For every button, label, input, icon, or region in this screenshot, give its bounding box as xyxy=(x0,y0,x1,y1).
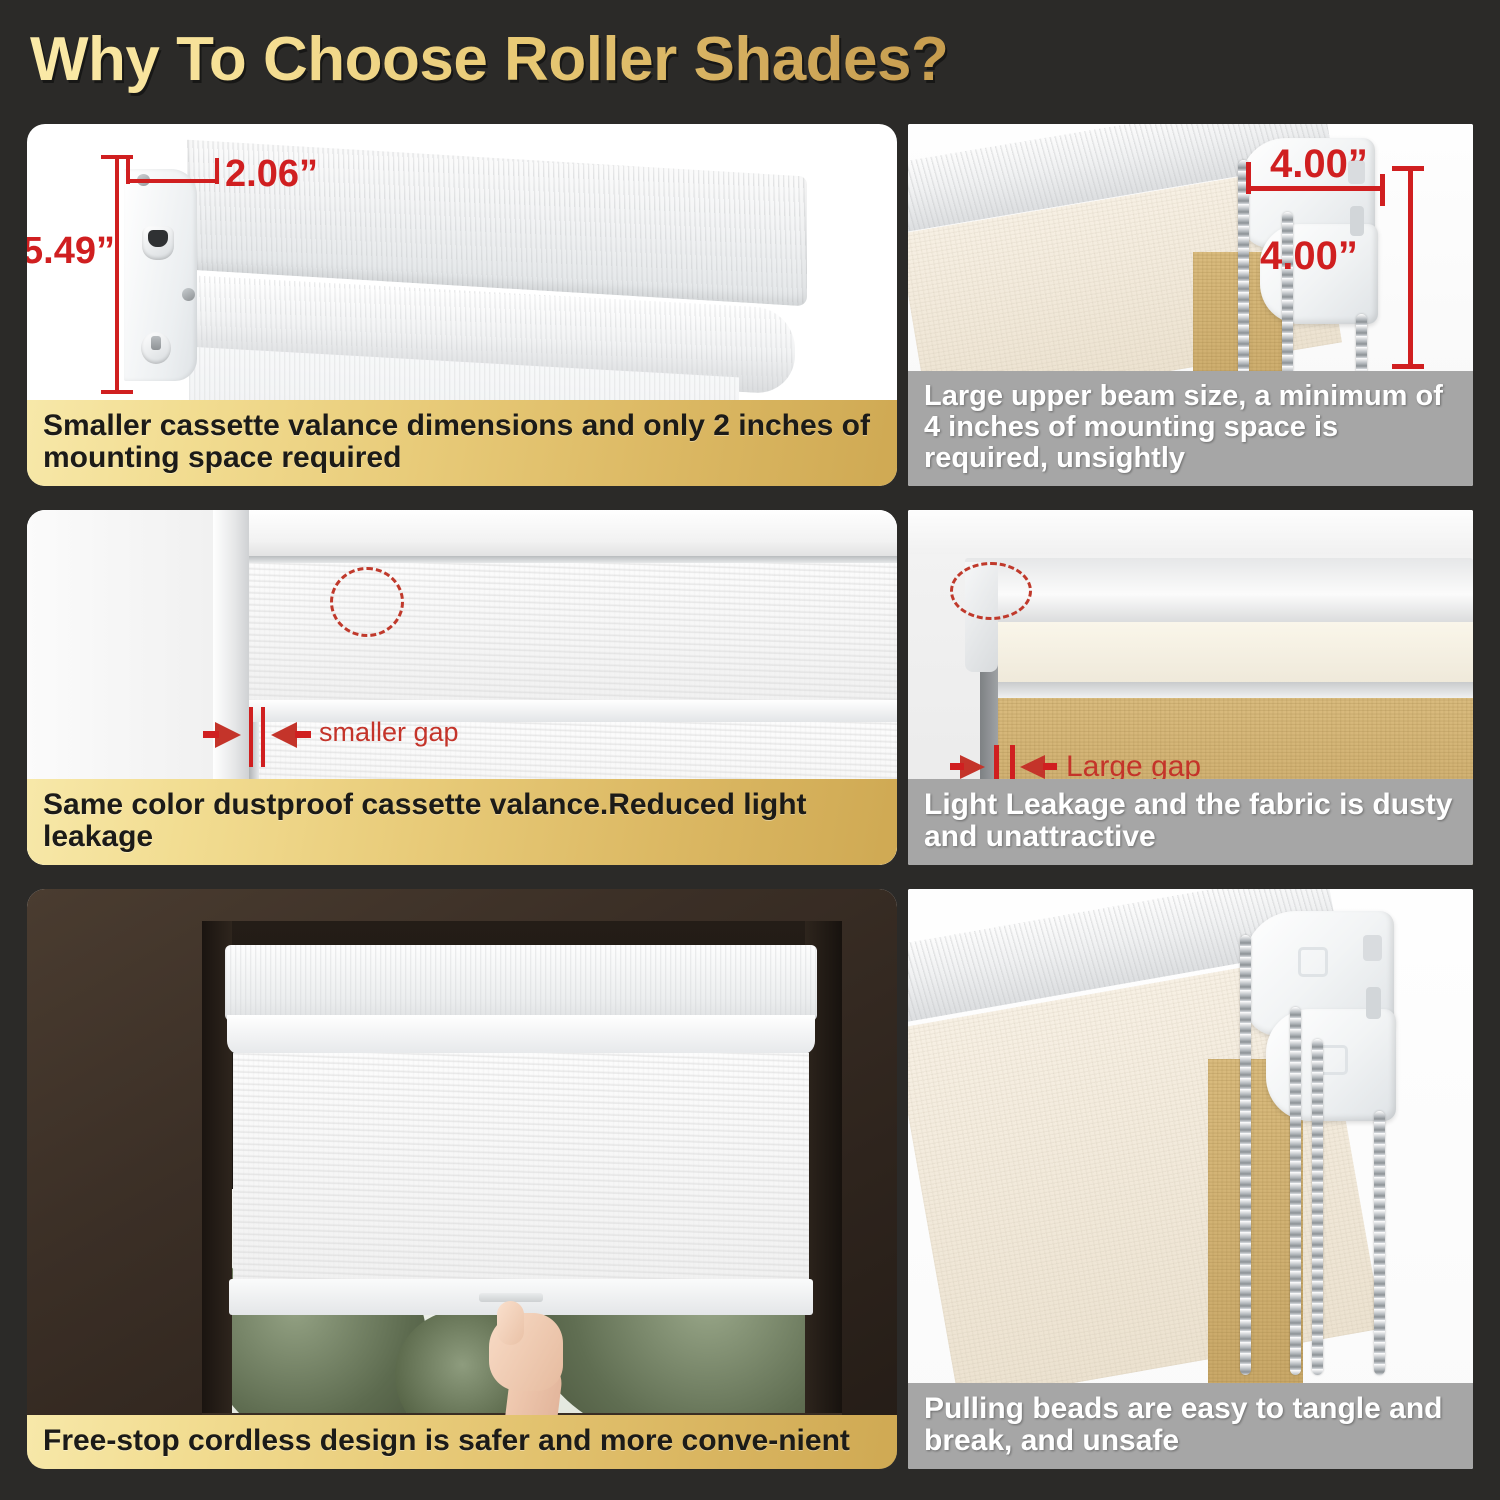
panel-con-light-leakage[interactable]: Large gap Light Leakage and the fabric i… xyxy=(908,510,1473,865)
bracket-slot-icon xyxy=(148,230,168,247)
width-dimension-label: 2.06” xyxy=(225,153,318,196)
height-dimension-line xyxy=(115,156,119,394)
beam-height-label: 4.00” xyxy=(1260,234,1358,279)
bottom-rail xyxy=(993,682,1473,698)
bead-chain-3 xyxy=(1312,1039,1323,1375)
width-dimension-tick-left xyxy=(126,158,130,184)
beam-height-line xyxy=(1408,168,1413,368)
height-dimension-label: 5.49” xyxy=(27,230,115,273)
panel-pro-cordless-design[interactable]: Free-stop cordless design is safer and m… xyxy=(27,889,897,1469)
beam-lower-cream xyxy=(998,622,1473,684)
panel-pro-cassette-size[interactable]: 2.06” 5.49” Smaller cassette valance dim… xyxy=(27,124,897,486)
cassette-lip xyxy=(227,1015,815,1055)
top-shadow-band xyxy=(908,510,1473,554)
gap-marker-right xyxy=(261,707,265,767)
height-dimension-tick-top xyxy=(101,155,133,159)
window-frame-top xyxy=(223,510,897,562)
beam-width-tick-left xyxy=(1246,162,1251,194)
bead-chain-1 xyxy=(1240,935,1251,1375)
valance-seam xyxy=(249,556,897,563)
upper-beam-rail xyxy=(965,558,1473,624)
gap-highlight-circle xyxy=(950,562,1032,620)
panel-con-pulling-beads[interactable]: Pulling beads are easy to tangle and bre… xyxy=(908,889,1473,1469)
beam-height-tick-bottom xyxy=(1392,364,1424,369)
beam-width-tick-right xyxy=(1380,174,1385,206)
cordless-shade-room-photo xyxy=(27,889,897,1469)
bracket-slot-icon xyxy=(1366,987,1381,1019)
gap-label-smaller: smaller gap xyxy=(319,717,459,748)
gap-arrow-right-tail xyxy=(1043,763,1057,770)
bead-chain-2 xyxy=(1290,1007,1301,1375)
bracket-slot-icon xyxy=(1350,206,1364,236)
gap-arrow-right-tail xyxy=(295,731,311,738)
width-dimension-tick-right xyxy=(215,158,219,184)
panel-caption-pro-dustproof-valance: Same color dustproof cassette valance.Re… xyxy=(27,779,897,865)
bracket-logo-icon xyxy=(1298,947,1328,977)
gap-arrow-left-tail xyxy=(203,731,219,738)
gap-arrow-left-tail xyxy=(950,763,964,770)
hand-finger xyxy=(497,1301,524,1345)
panel-caption-pro-cassette-size: Smaller cassette valance dimensions and … xyxy=(27,400,897,486)
panel-con-beam-size[interactable]: 4.00” 4.00” Large upper beam size, a min… xyxy=(908,124,1473,486)
height-dimension-tick-bottom xyxy=(101,390,133,394)
panel-caption-con-beam-size: Large upper beam size, a minimum of 4 in… xyxy=(908,371,1473,486)
bead-chain-4 xyxy=(1374,1111,1385,1375)
gap-marker-left xyxy=(249,707,253,767)
shade-fabric-panel xyxy=(233,1053,809,1283)
gap-highlight-circle xyxy=(330,567,404,637)
panel-pro-dustproof-valance[interactable]: smaller gap Same color dustproof cassett… xyxy=(27,510,897,865)
width-dimension-line xyxy=(127,179,219,183)
gap-arrow-right-icon xyxy=(271,722,297,748)
comparison-grid: 2.06” 5.49” Smaller cassette valance dim… xyxy=(0,0,1500,1500)
panel-caption-con-pulling-beads: Pulling beads are easy to tangle and bre… xyxy=(908,1383,1473,1469)
beam-width-label: 4.00” xyxy=(1270,142,1368,187)
cassette-header xyxy=(225,945,817,1021)
bracket-notch-icon xyxy=(1363,935,1382,961)
panel-caption-pro-cordless-design: Free-stop cordless design is safer and m… xyxy=(27,1415,897,1469)
screw-head-icon xyxy=(151,336,161,350)
panel-caption-con-light-leakage: Light Leakage and the fabric is dusty an… xyxy=(908,779,1473,865)
mount-screw-icon xyxy=(182,288,195,301)
beam-height-tick-top xyxy=(1392,166,1424,171)
gap-arrow-right-icon xyxy=(1020,755,1045,779)
